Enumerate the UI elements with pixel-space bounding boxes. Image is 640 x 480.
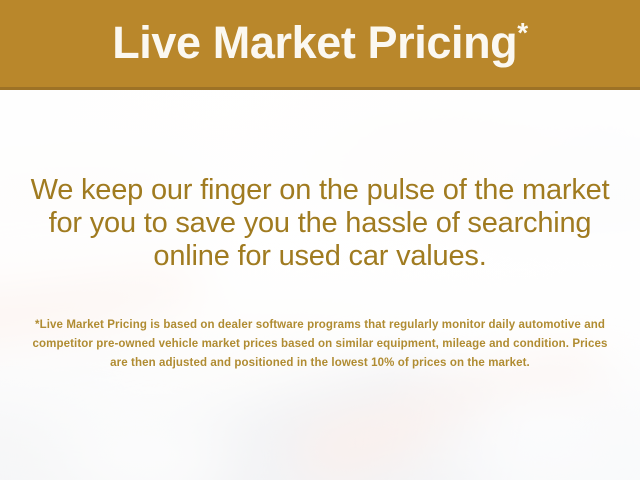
header-banner: Live Market Pricing* (0, 0, 640, 90)
headline-text: We keep our finger on the pulse of the m… (20, 174, 620, 273)
page-title: Live Market Pricing* (112, 20, 528, 68)
footnote-marker: * (517, 17, 528, 48)
live-market-pricing-card: Live Market Pricing* We keep our finger … (0, 0, 640, 480)
content-area: We keep our finger on the pulse of the m… (0, 90, 640, 480)
page-title-text: Live Market Pricing (112, 17, 517, 68)
disclaimer-text: *Live Market Pricing is based on dealer … (28, 316, 612, 373)
